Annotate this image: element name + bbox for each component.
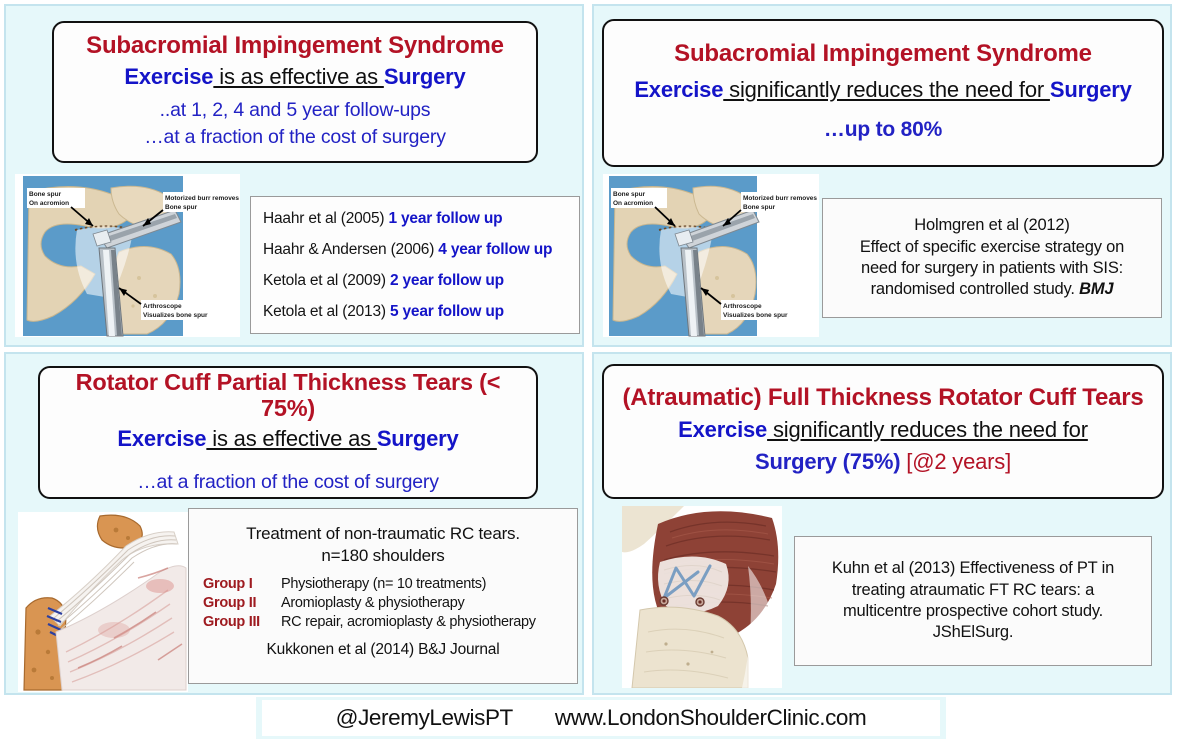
study-line: n=180 shoulders [189,545,577,567]
reference-author: Ketola et al (2013) [263,303,386,320]
reference-row: Haahr et al (2005) 1 year follow up [263,210,579,228]
svg-text:Motorized burr removes: Motorized burr removes [743,195,817,202]
citation-line: need for surgery in patients with SIS: [823,258,1161,279]
panel-full-thickness-tears: (Atraumatic) Full Thickness Rotator Cuff… [592,352,1172,695]
panel-heading: Rotator Cuff Partial Thickness Tears (< … [50,369,526,422]
panel-line-1: …up to 80% [614,117,1152,142]
study-line: Treatment of non-traumatic RC tears. [189,523,577,545]
reference-followup: 2 year follow up [390,272,504,289]
reference-author: Ketola et al (2009) [263,272,386,289]
title-box-top-right: Subacromial Impingement Syndrome Exercis… [602,19,1164,167]
svg-text:On acromion: On acromion [29,200,69,207]
illustration-subacromial-decompression: Bone spur On acromion Motorized burr rem… [15,174,240,337]
illustration-partial-thickness-tear [18,512,188,692]
group-text: Aromioplasty & physiotherapy [281,594,464,613]
citation-box-holmgren: Holmgren et al (2012) Effect of specific… [822,198,1162,318]
citation-journal: BMJ [1079,280,1113,298]
group-table: Group I Physiotherapy (n= 10 treatments)… [189,575,577,632]
study-citation-journal: B&J Journal [418,641,499,658]
panel-partial-thickness-tears: Rotator Cuff Partial Thickness Tears (< … [4,352,584,695]
svg-text:Bone spur: Bone spur [165,204,198,211]
group-label: Group II [203,594,281,613]
reference-followup: 4 year follow up [438,241,552,258]
reference-author: Haahr et al (2005) [263,210,384,227]
svg-text:Arthroscope: Arthroscope [723,303,762,310]
citation-line: treating atraumatic FT RC tears: a [795,580,1151,601]
svg-text:On acromion: On acromion [613,200,653,207]
group-row: Group II Aromioplasty & physiotherapy [203,594,571,613]
citation-line: Effect of specific exercise strategy on [823,237,1161,258]
svg-text:Visualizes bone spur: Visualizes bone spur [143,312,208,319]
group-label: Group III [203,613,281,632]
subheading-middle: is as effective as [213,64,383,89]
citation-line: multicentre prospective cohort study. [795,601,1151,622]
citation-box-kuhn: Kuhn et al (2013) Effectiveness of PT in… [794,536,1152,666]
group-label: Group I [203,575,281,594]
panel-subheading: Exercise is as effective as Surgery [64,64,526,90]
svg-text:Bone spur: Bone spur [29,191,62,198]
footer-twitter-handle: @JeremyLewisPT [336,705,513,731]
subheading-exercise: Exercise [117,426,206,451]
subheading-exercise: Exercise [678,417,767,442]
illustration-full-thickness-repair [622,506,782,688]
panel-subacromial-surgery-reduction: Subacromial Impingement Syndrome Exercis… [592,4,1172,347]
reference-followup: 1 year follow up [388,210,502,227]
svg-text:Visualizes bone spur: Visualizes bone spur [723,312,788,319]
reference-row: Haahr & Andersen (2006) 4 year follow up [263,241,579,259]
group-text: RC repair, acromioplasty & physiotherapy [281,613,536,632]
panel-subheading: Exercise is as effective as Surgery [50,426,526,452]
subheading-exercise: Exercise [634,77,723,102]
line-surgery-percent: Surgery (75%) [755,449,906,474]
reference-row: Ketola et al (2013) 5 year follow up [263,303,579,321]
panel-subacromial-effectiveness: Subacromial Impingement Syndrome Exercis… [4,4,584,347]
footer-bar: @JeremyLewisPT www.LondonShoulderClinic.… [262,700,940,736]
subheading-middle: is as effective as [206,426,376,451]
citation-line: Kuhn et al (2013) Effectiveness of PT in [795,558,1151,579]
group-text: Physiotherapy (n= 10 treatments) [281,575,486,594]
subheading-exercise: Exercise [124,64,213,89]
panel-line-1: ..at 1, 2, 4 and 5 year follow-ups [64,99,526,122]
subheading-middle: significantly reduces the need for [723,77,1050,102]
subheading-middle: significantly reduces the need for [767,417,1088,442]
svg-text:Bone spur: Bone spur [613,191,646,198]
svg-text:Arthroscope: Arthroscope [143,303,182,310]
panel-heading: Subacromial Impingement Syndrome [64,33,526,60]
subheading-surgery: Surgery [377,426,459,451]
panel-line-1: Surgery (75%) [@2 years] [614,449,1152,475]
study-box-kukkonen: Treatment of non-traumatic RC tears. n=1… [188,508,578,684]
svg-text:Bone spur: Bone spur [743,204,776,211]
panel-line-1: …at a fraction of the cost of surgery [50,471,526,494]
illustration-subacromial-decompression: Bone spur On acromion Motorized burr rem… [603,174,819,337]
footer-website: www.LondonShoulderClinic.com [555,705,866,731]
citation-text: randomised controlled study. [871,280,1080,298]
citation-line: Holmgren et al (2012) [823,215,1161,236]
study-citation-text: Kukkonen et al (2014) [267,641,419,658]
line-timeframe: [@2 years] [906,449,1011,474]
panel-subheading: Exercise significantly reduces the need … [614,417,1152,443]
citation-line: randomised controlled study. BMJ [823,279,1161,300]
subheading-surgery: Surgery [1050,77,1132,102]
panel-heading: Subacromial Impingement Syndrome [614,41,1152,68]
title-box-top-left: Subacromial Impingement Syndrome Exercis… [52,21,538,163]
subheading-surgery: Surgery [384,64,466,89]
svg-text:Motorized burr removes: Motorized burr removes [165,195,239,202]
title-box-bottom-left: Rotator Cuff Partial Thickness Tears (< … [38,366,538,499]
panel-heading: (Atraumatic) Full Thickness Rotator Cuff… [614,385,1152,412]
group-row: Group I Physiotherapy (n= 10 treatments) [203,575,571,594]
study-citation: Kukkonen et al (2014) B&J Journal [189,641,577,659]
title-box-bottom-right: (Atraumatic) Full Thickness Rotator Cuff… [602,364,1164,499]
citation-journal: JShElSurg. [795,622,1151,643]
panel-subheading: Exercise significantly reduces the need … [614,77,1152,103]
reference-author: Haahr & Andersen (2006) [263,241,434,258]
reference-list-impingement: Haahr et al (2005) 1 year follow up Haah… [250,196,580,334]
group-row: Group III RC repair, acromioplasty & phy… [203,613,571,632]
slide-canvas: Subacromial Impingement Syndrome Exercis… [0,0,1190,741]
panel-line-2: …at a fraction of the cost of surgery [64,126,526,149]
reference-row: Ketola et al (2009) 2 year follow up [263,272,579,290]
reference-followup: 5 year follow up [390,303,504,320]
